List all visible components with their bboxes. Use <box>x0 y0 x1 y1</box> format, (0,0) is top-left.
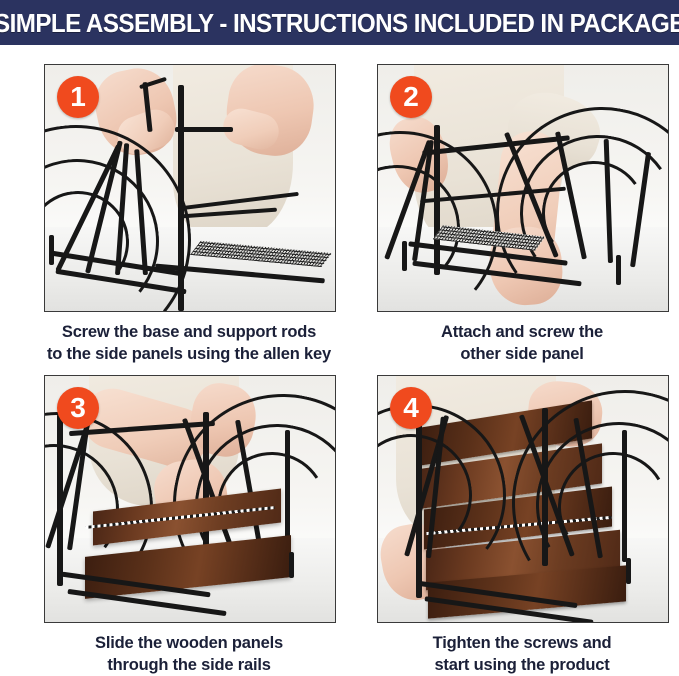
step-4-caption-line-2: start using the product <box>377 654 667 676</box>
step-1-caption-line-2: to the side panels using the allen key <box>44 343 334 365</box>
assembly-steps-grid: 1 Screw the base and support rods to the… <box>0 45 679 675</box>
step-3-caption-line-1: Slide the wooden panels <box>44 632 334 654</box>
step-3-caption-line-2: through the side rails <box>44 654 334 676</box>
step-2-caption: Attach and screw the other side panel <box>377 321 667 365</box>
step-3-badge: 3 <box>57 387 99 429</box>
right-panel-upright <box>203 412 209 562</box>
base-foot-right <box>626 558 631 584</box>
assembly-step-1: 1 Screw the base and support rods to the… <box>44 64 336 365</box>
step-2-photo: 2 <box>377 64 669 312</box>
base-foot-right <box>179 285 184 311</box>
step-2-badge: 2 <box>390 76 432 118</box>
base-foot-left <box>402 241 407 271</box>
step-2-caption-line-2: other side panel <box>377 343 667 365</box>
page-title: SIMPLE ASSEMBLY - INSTRUCTIONS INCLUDED … <box>0 10 679 36</box>
left-panel-upright <box>416 412 422 598</box>
assembly-step-2: 2 Attach and screw the other side panel <box>377 64 669 365</box>
step-1-caption-line-1: Screw the base and support rods <box>44 321 334 343</box>
left-panel-upright <box>57 414 63 586</box>
step-4-badge: 4 <box>390 387 432 429</box>
step-1-caption: Screw the base and support rods to the s… <box>44 321 334 365</box>
right-panel-upright <box>542 408 548 566</box>
step-4-caption-line-1: Tighten the screws and <box>377 632 667 654</box>
step-1-photo: 1 <box>44 64 336 312</box>
base-foot-right <box>289 552 294 578</box>
step-1-badge: 1 <box>57 76 99 118</box>
step-4-caption: Tighten the screws and start using the p… <box>377 632 667 676</box>
step-3-photo: 3 <box>44 375 336 623</box>
right-panel-spoke-3 <box>622 430 627 562</box>
base-foot-right <box>616 255 621 285</box>
assembly-step-3: 3 Slide the wooden panels through the si… <box>44 375 336 676</box>
header-banner: SIMPLE ASSEMBLY - INSTRUCTIONS INCLUDED … <box>0 0 679 45</box>
step-2-caption-line-1: Attach and screw the <box>377 321 667 343</box>
step-3-caption: Slide the wooden panels through the side… <box>44 632 334 676</box>
base-foot-left <box>49 235 54 265</box>
assembly-step-4: 4 Tighten the screws and start using the… <box>377 375 669 676</box>
step-4-photo: 4 <box>377 375 669 623</box>
